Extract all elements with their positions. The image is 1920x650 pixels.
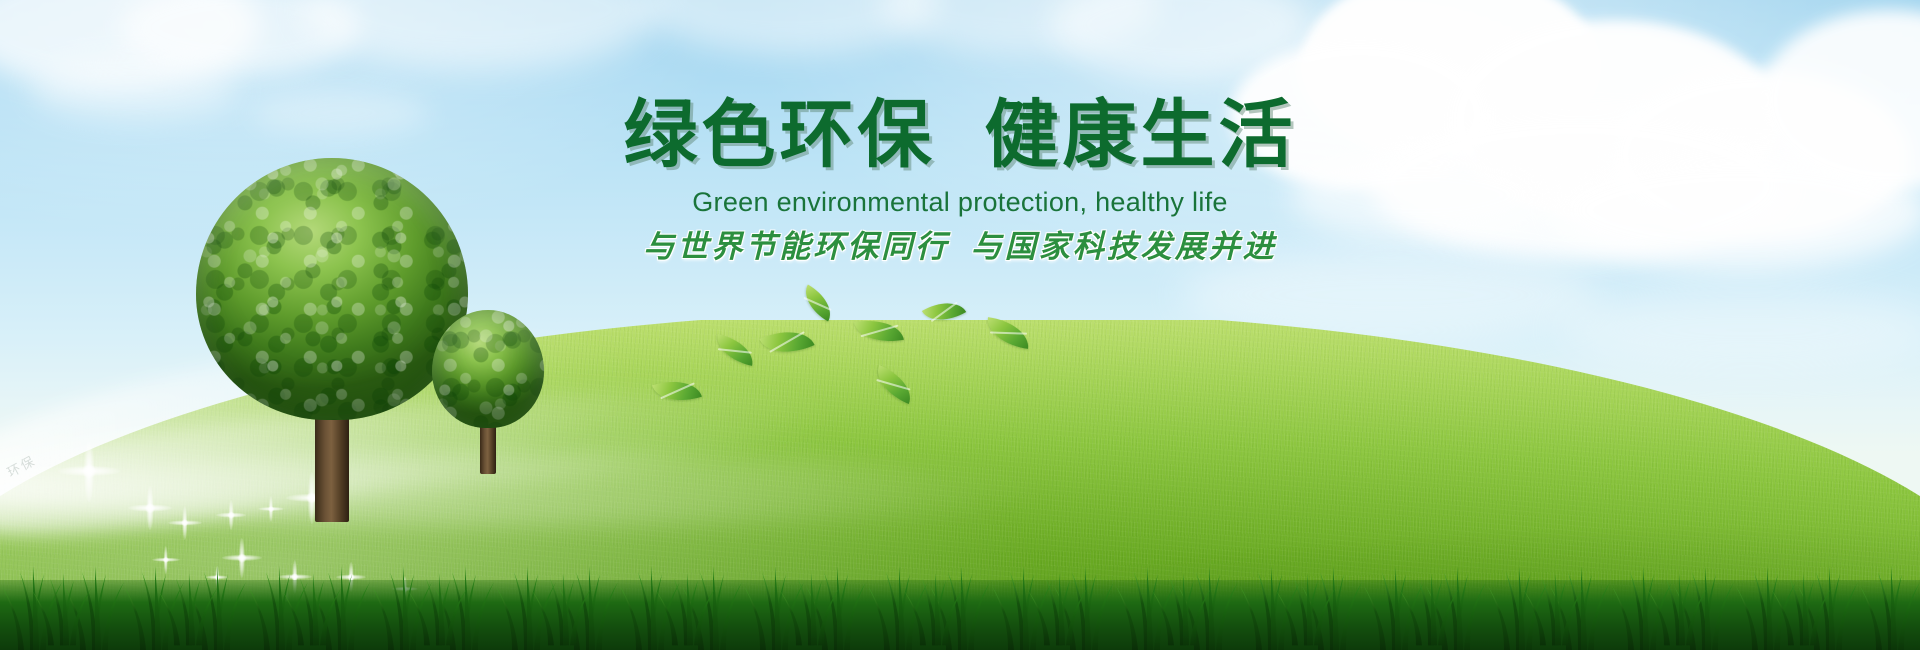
leaf-vein xyxy=(660,383,694,399)
small-tree xyxy=(432,310,544,490)
foreground-grass-strip xyxy=(0,560,1920,650)
banner-headline: 绿色环保 健康生活 xyxy=(0,96,1920,174)
tree-crown-shading xyxy=(432,310,544,428)
green-environment-banner: 绿色环保 健康生活 Green environmental protection… xyxy=(0,0,1920,650)
banner-subtitle-chinese: 与世界节能环保同行 与国家科技发展并进 xyxy=(0,228,1920,267)
banner-text-block: 绿色环保 健康生活 Green environmental protection… xyxy=(0,96,1920,267)
leaf-vein xyxy=(860,325,898,337)
banner-subtitle-english: Green environmental protection, healthy … xyxy=(0,186,1920,218)
leaf-vein xyxy=(989,332,1026,335)
tree-trunk xyxy=(315,404,349,522)
leaf-vein xyxy=(769,331,805,352)
grass-blades-icon xyxy=(0,560,1920,650)
